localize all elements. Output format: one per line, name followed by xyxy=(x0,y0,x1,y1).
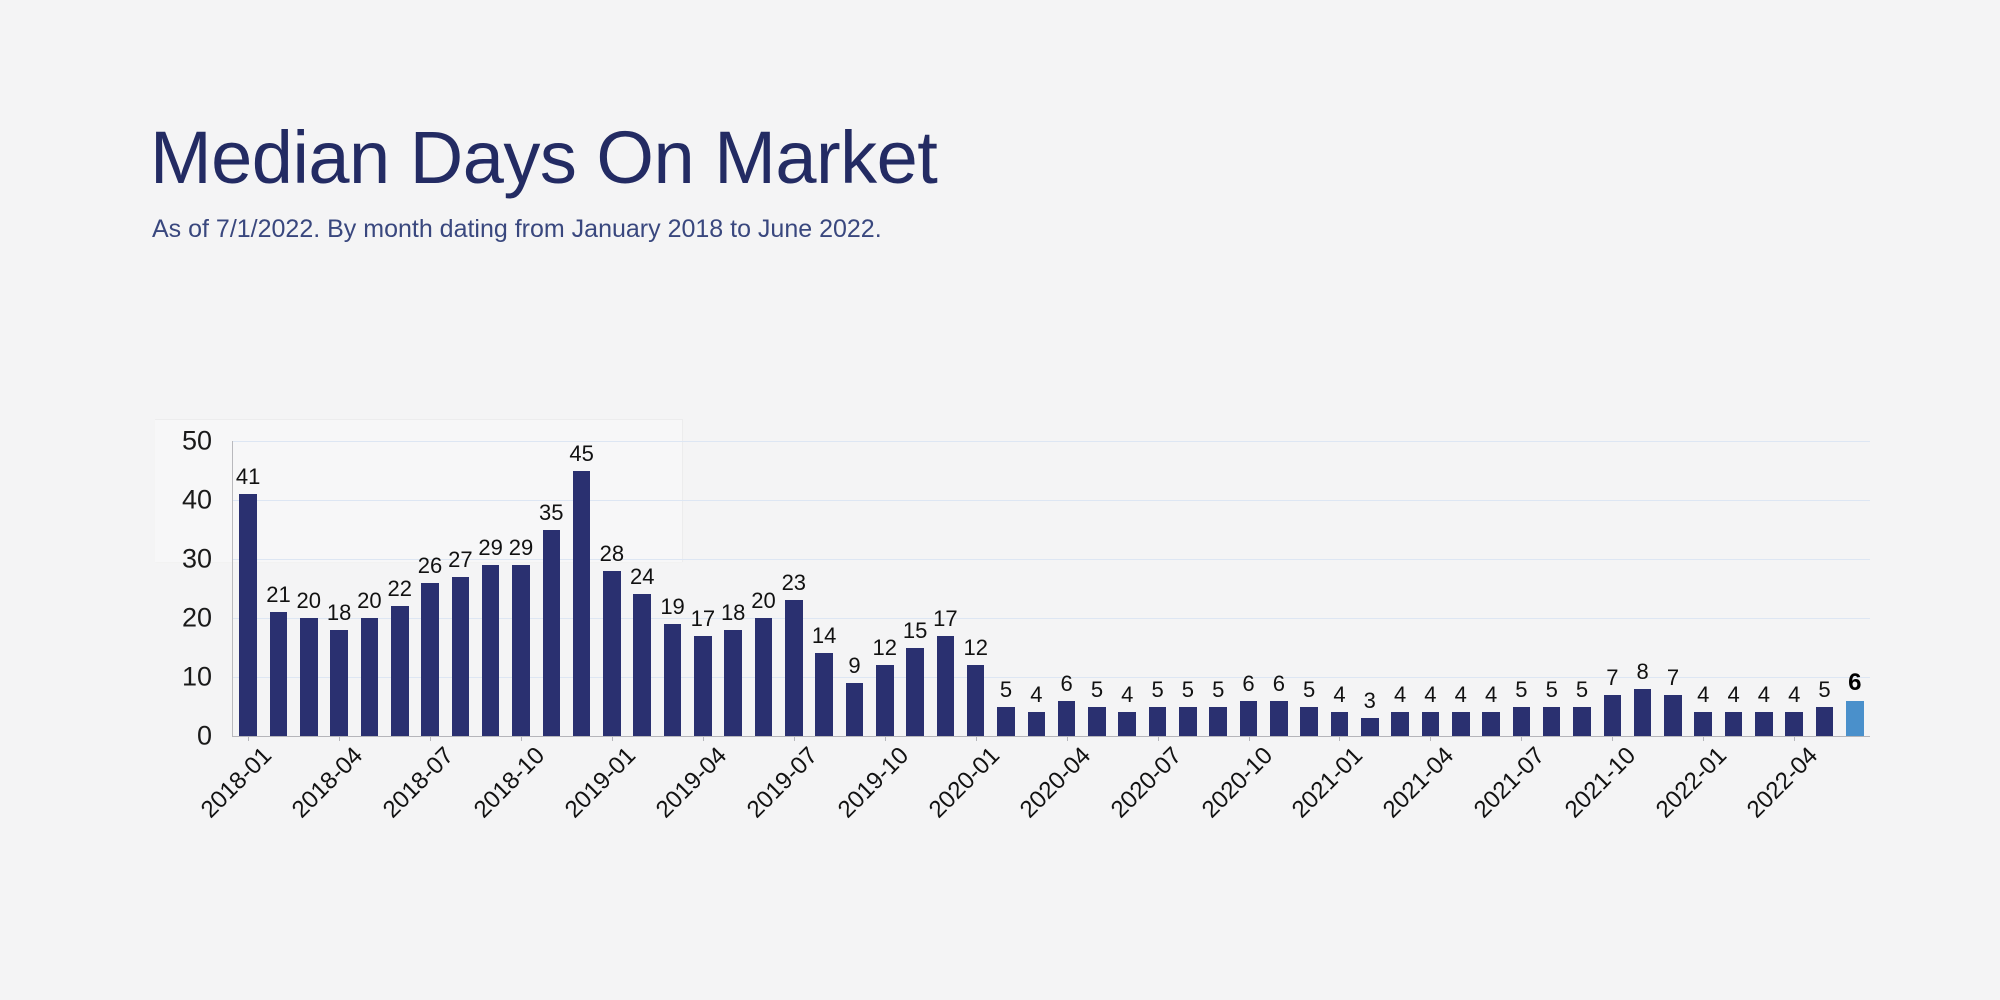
bar-group[interactable]: 4 xyxy=(1749,441,1779,736)
bar[interactable] xyxy=(846,683,864,736)
bar-group[interactable]: 45 xyxy=(566,441,596,736)
x-axis-tick-mark xyxy=(1521,736,1522,741)
bar-value-label: 20 xyxy=(751,590,775,612)
x-axis-tick-mark xyxy=(976,736,977,741)
bar-group[interactable]: 18 xyxy=(718,441,748,736)
x-axis-tick-mark xyxy=(794,736,795,741)
x-axis-tick-mark xyxy=(1703,736,1704,741)
bar[interactable] xyxy=(1452,712,1470,736)
bar-value-label: 5 xyxy=(1515,679,1527,701)
bar-value-label: 5 xyxy=(1546,679,1558,701)
bar-group[interactable]: 35 xyxy=(536,441,566,736)
bar-group[interactable]: 7 xyxy=(1597,441,1627,736)
bar-value-label: 12 xyxy=(963,637,987,659)
bar-group[interactable]: 4 xyxy=(1446,441,1476,736)
bar[interactable] xyxy=(967,665,985,736)
bar-group[interactable]: 5 xyxy=(1537,441,1567,736)
bar[interactable] xyxy=(1694,712,1712,736)
bar[interactable] xyxy=(1118,712,1136,736)
y-axis-tick-label: 0 xyxy=(150,721,212,752)
bar-value-label: 21 xyxy=(266,584,290,606)
bar[interactable] xyxy=(1846,701,1864,736)
x-axis-tick-label: 2021-07 xyxy=(1469,742,1551,824)
bar[interactable] xyxy=(1573,707,1591,737)
bar-value-label: 20 xyxy=(297,590,321,612)
x-axis-tick-label: 2018-01 xyxy=(196,742,278,824)
bar-group[interactable]: 6 xyxy=(1233,441,1263,736)
bar-group[interactable]: 28 xyxy=(597,441,627,736)
bar-value-label: 41 xyxy=(236,466,260,488)
bar-value-label: 6 xyxy=(1242,673,1254,695)
bar[interactable] xyxy=(1300,707,1318,737)
bar[interactable] xyxy=(785,600,803,736)
bar[interactable] xyxy=(1816,707,1834,737)
bar[interactable] xyxy=(1391,712,1409,736)
bar[interactable] xyxy=(421,583,439,736)
bar-group[interactable]: 8 xyxy=(1627,441,1657,736)
bar-group[interactable]: 6 xyxy=(1840,441,1870,736)
bar[interactable] xyxy=(1361,718,1379,736)
bar[interactable] xyxy=(633,594,651,736)
bar-group[interactable]: 22 xyxy=(385,441,415,736)
bar-value-label: 8 xyxy=(1637,661,1649,683)
bar[interactable] xyxy=(1664,695,1682,736)
bar-group[interactable]: 5 xyxy=(1506,441,1536,736)
bar-value-label: 28 xyxy=(600,543,624,565)
bar-value-label: 45 xyxy=(569,443,593,465)
bar-value-label: 4 xyxy=(1030,684,1042,706)
x-axis-tick-mark xyxy=(1794,736,1795,741)
bar-value-label: 4 xyxy=(1424,684,1436,706)
bar[interactable] xyxy=(330,630,348,736)
bar[interactable] xyxy=(876,665,894,736)
bar[interactable] xyxy=(1604,695,1622,736)
bar-value-label: 5 xyxy=(1212,679,1224,701)
bar-group[interactable]: 20 xyxy=(748,441,778,736)
x-axis-tick-label: 2019-10 xyxy=(832,742,914,824)
bar-group[interactable]: 5 xyxy=(1203,441,1233,736)
x-axis-tick-mark xyxy=(1249,736,1250,741)
bar-value-label: 9 xyxy=(848,655,860,677)
x-axis-tick-label: 2018-04 xyxy=(287,742,369,824)
bar-group[interactable]: 9 xyxy=(839,441,869,736)
y-axis-tick-label: 50 xyxy=(150,426,212,457)
bar[interactable] xyxy=(1513,707,1531,737)
bar[interactable] xyxy=(1482,712,1500,736)
x-axis-tick-label: 2020-04 xyxy=(1014,742,1096,824)
bar[interactable] xyxy=(543,530,561,737)
x-axis-tick-mark xyxy=(703,736,704,741)
bar-group[interactable]: 7 xyxy=(1658,441,1688,736)
bar-group[interactable]: 5 xyxy=(1809,441,1839,736)
bar-group[interactable]: 15 xyxy=(900,441,930,736)
bar-value-label: 29 xyxy=(509,537,533,559)
bar-group[interactable]: 6 xyxy=(1264,441,1294,736)
bar-value-label: 6 xyxy=(1848,671,1861,695)
bar-group[interactable]: 19 xyxy=(657,441,687,736)
bar[interactable] xyxy=(1331,712,1349,736)
bar-group[interactable]: 4 xyxy=(1718,441,1748,736)
bar[interactable] xyxy=(239,494,257,736)
bar[interactable] xyxy=(361,618,379,736)
bar[interactable] xyxy=(724,630,742,736)
bar[interactable] xyxy=(1543,707,1561,737)
bar-value-label: 18 xyxy=(721,602,745,624)
bar[interactable] xyxy=(603,571,621,736)
bar-value-label: 4 xyxy=(1758,684,1770,706)
bar[interactable] xyxy=(906,648,924,737)
bar-value-label: 4 xyxy=(1788,684,1800,706)
bar-value-label: 4 xyxy=(1121,684,1133,706)
bar-group[interactable]: 12 xyxy=(961,441,991,736)
x-axis-tick-label: 2020-10 xyxy=(1196,742,1278,824)
bar-value-label: 7 xyxy=(1667,667,1679,689)
bar-value-label: 4 xyxy=(1394,684,1406,706)
x-axis-tick-mark xyxy=(1158,736,1159,741)
bar-value-label: 24 xyxy=(630,566,654,588)
bar[interactable] xyxy=(1179,707,1197,737)
bar-group[interactable]: 3 xyxy=(1355,441,1385,736)
bar-group[interactable]: 29 xyxy=(506,441,536,736)
bar-value-label: 17 xyxy=(933,608,957,630)
bar[interactable] xyxy=(1028,712,1046,736)
bar-value-label: 4 xyxy=(1455,684,1467,706)
bar-value-label: 5 xyxy=(1091,679,1103,701)
x-axis-tick-mark xyxy=(1612,736,1613,741)
bar[interactable] xyxy=(694,636,712,736)
x-axis-tick-mark xyxy=(339,736,340,741)
bar-value-label: 4 xyxy=(1697,684,1709,706)
bar-value-label: 15 xyxy=(903,620,927,642)
y-axis-tick-label: 40 xyxy=(150,485,212,516)
bar-value-label: 5 xyxy=(1000,679,1012,701)
bar-value-label: 5 xyxy=(1818,679,1830,701)
bar-group[interactable]: 6 xyxy=(1052,441,1082,736)
bar[interactable] xyxy=(1209,707,1227,737)
x-axis-tick-label: 2021-01 xyxy=(1287,742,1369,824)
bar[interactable] xyxy=(1240,701,1258,736)
bar-group[interactable]: 26 xyxy=(415,441,445,736)
bar[interactable] xyxy=(815,653,833,736)
bar-group[interactable]: 17 xyxy=(688,441,718,736)
bars-layer: 4121201820222627292935452824191718202314… xyxy=(233,441,1870,736)
bar[interactable] xyxy=(512,565,530,736)
bar-group[interactable]: 4 xyxy=(1415,441,1445,736)
bar[interactable] xyxy=(1270,701,1288,736)
bar-value-label: 19 xyxy=(660,596,684,618)
x-axis-tick-label: 2019-04 xyxy=(651,742,733,824)
bar[interactable] xyxy=(1149,707,1167,737)
bar-group[interactable]: 5 xyxy=(1173,441,1203,736)
bar[interactable] xyxy=(391,606,409,736)
bar-chart: 01020304050 4121201820222627292935452824… xyxy=(0,0,2000,1000)
bar-value-label: 27 xyxy=(448,549,472,571)
bar[interactable] xyxy=(482,565,500,736)
x-axis-labels: 2018-012018-042018-072018-102019-012019-… xyxy=(233,742,1870,892)
bar[interactable] xyxy=(1725,712,1743,736)
bar[interactable] xyxy=(1634,689,1652,736)
bar-group[interactable]: 41 xyxy=(233,441,263,736)
bar-value-label: 6 xyxy=(1061,673,1073,695)
bar-value-label: 20 xyxy=(357,590,381,612)
bar-group[interactable]: 4 xyxy=(1385,441,1415,736)
bar-group[interactable]: 5 xyxy=(1082,441,1112,736)
bar[interactable] xyxy=(1755,712,1773,736)
y-axis-tick-label: 10 xyxy=(150,662,212,693)
x-axis-tick-label: 2018-07 xyxy=(378,742,460,824)
bar-value-label: 5 xyxy=(1182,679,1194,701)
bar[interactable] xyxy=(300,618,318,736)
bar-group[interactable]: 20 xyxy=(294,441,324,736)
x-axis-tick-mark xyxy=(1430,736,1431,741)
x-axis-tick-mark xyxy=(1339,736,1340,741)
x-axis-tick-mark xyxy=(521,736,522,741)
bar[interactable] xyxy=(1088,707,1106,737)
bar-group[interactable]: 4 xyxy=(1779,441,1809,736)
bar-group[interactable]: 20 xyxy=(354,441,384,736)
bar-value-label: 14 xyxy=(812,625,836,647)
bar[interactable] xyxy=(573,471,591,737)
bar-value-label: 6 xyxy=(1273,673,1285,695)
bar-group[interactable]: 4 xyxy=(1112,441,1142,736)
x-axis-tick-mark xyxy=(612,736,613,741)
bar-value-label: 23 xyxy=(782,572,806,594)
bar-group[interactable]: 5 xyxy=(1142,441,1172,736)
bar-group[interactable]: 23 xyxy=(779,441,809,736)
x-axis-tick-mark xyxy=(248,736,249,741)
x-axis-tick-label: 2022-04 xyxy=(1742,742,1824,824)
bar[interactable] xyxy=(452,577,470,736)
x-axis-tick-label: 2020-07 xyxy=(1105,742,1187,824)
bar-value-label: 4 xyxy=(1727,684,1739,706)
x-axis-tick-mark xyxy=(1067,736,1068,741)
x-axis-tick-label: 2020-01 xyxy=(923,742,1005,824)
bar-group[interactable]: 4 xyxy=(1688,441,1718,736)
bar-value-label: 7 xyxy=(1606,667,1618,689)
bar-value-label: 5 xyxy=(1303,679,1315,701)
bar[interactable] xyxy=(1422,712,1440,736)
bar-value-label: 4 xyxy=(1333,684,1345,706)
bar-value-label: 35 xyxy=(539,502,563,524)
bar[interactable] xyxy=(937,636,955,736)
bar-group[interactable]: 24 xyxy=(627,441,657,736)
bar[interactable] xyxy=(1785,712,1803,736)
bar-group[interactable]: 5 xyxy=(1567,441,1597,736)
bar[interactable] xyxy=(1058,701,1076,736)
bar-value-label: 5 xyxy=(1576,679,1588,701)
bar-value-label: 17 xyxy=(691,608,715,630)
bar-group[interactable]: 14 xyxy=(809,441,839,736)
x-axis-tick-label: 2022-01 xyxy=(1651,742,1733,824)
bar-group[interactable]: 27 xyxy=(445,441,475,736)
x-axis-tick-mark xyxy=(430,736,431,741)
bar-group[interactable]: 18 xyxy=(324,441,354,736)
bar-value-label: 26 xyxy=(418,555,442,577)
bar[interactable] xyxy=(755,618,773,736)
bar[interactable] xyxy=(997,707,1015,737)
bar-value-label: 29 xyxy=(478,537,502,559)
bar-group[interactable]: 4 xyxy=(1324,441,1354,736)
x-axis-tick-label: 2019-01 xyxy=(560,742,642,824)
bar-value-label: 4 xyxy=(1485,684,1497,706)
x-axis-tick-label: 2021-10 xyxy=(1560,742,1642,824)
chart-page: Median Days On Market As of 7/1/2022. By… xyxy=(0,0,2000,1000)
x-axis-tick-label: 2019-07 xyxy=(742,742,824,824)
bar-group[interactable]: 17 xyxy=(930,441,960,736)
bar-group[interactable]: 4 xyxy=(1476,441,1506,736)
bar-group[interactable]: 5 xyxy=(1294,441,1324,736)
bar[interactable] xyxy=(664,624,682,736)
y-axis-tick-label: 20 xyxy=(150,603,212,634)
bar[interactable] xyxy=(270,612,288,736)
bar-value-label: 5 xyxy=(1151,679,1163,701)
x-axis-tick-label: 2018-10 xyxy=(469,742,551,824)
bar-value-label: 3 xyxy=(1364,690,1376,712)
bar-group[interactable]: 12 xyxy=(870,441,900,736)
bar-value-label: 18 xyxy=(327,602,351,624)
x-axis-line xyxy=(232,736,1870,737)
bar-value-label: 22 xyxy=(387,578,411,600)
y-axis-tick-label: 30 xyxy=(150,544,212,575)
bar-group[interactable]: 21 xyxy=(263,441,293,736)
bar-group[interactable]: 5 xyxy=(991,441,1021,736)
bar-value-label: 12 xyxy=(873,637,897,659)
x-axis-tick-mark xyxy=(885,736,886,741)
bar-group[interactable]: 29 xyxy=(476,441,506,736)
x-axis-tick-label: 2021-04 xyxy=(1378,742,1460,824)
bar-group[interactable]: 4 xyxy=(1021,441,1051,736)
